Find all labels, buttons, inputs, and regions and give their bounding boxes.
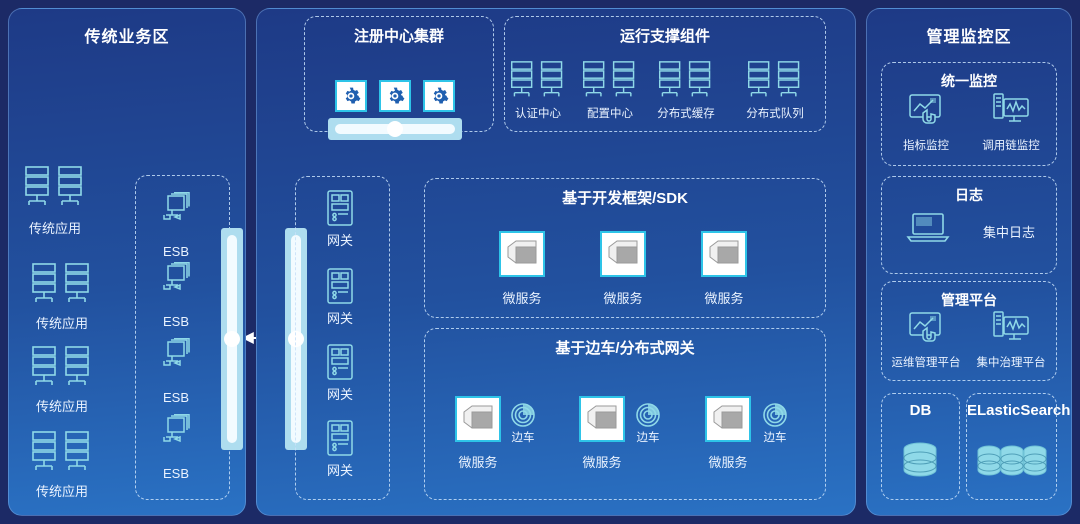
management-platform-title: 管理平台 xyxy=(882,290,1056,310)
registry-horizontal-slider[interactable] xyxy=(328,118,462,140)
sidecar-label: 边车 xyxy=(764,429,787,445)
runtime-item-label: 配置中心 xyxy=(587,105,633,121)
runtime-item-label: 分布式队列 xyxy=(746,105,804,121)
cube-icon xyxy=(708,239,740,269)
registry-cluster-box: 注册中心集群 xyxy=(304,16,494,132)
esb-label: ESB xyxy=(163,390,189,405)
gateway-icon xyxy=(325,268,355,311)
gateway-icon xyxy=(325,190,355,233)
sdk-microservice-0[interactable] xyxy=(499,231,545,277)
sdk-microservice-label: 微服务 xyxy=(502,288,541,307)
cube-icon xyxy=(506,239,538,269)
registry-slider-knob[interactable] xyxy=(387,121,403,137)
zone-legacy-title: 传统业务区 xyxy=(9,23,245,47)
gear-icon xyxy=(385,86,405,106)
sidecar-microservice-0[interactable] xyxy=(455,396,501,442)
runtime-item-label: 认证中心 xyxy=(515,105,561,121)
server-rack-icon xyxy=(746,60,804,105)
esb-icon xyxy=(156,262,196,305)
esb-label: ESB xyxy=(163,314,189,329)
legacy-app-label: 传统应用 xyxy=(29,218,81,237)
laptop-icon xyxy=(906,212,950,249)
sidecar-microservice-label: 微服务 xyxy=(708,452,747,471)
gateway-label: 网关 xyxy=(327,230,353,249)
database-cylinder-icon xyxy=(899,440,941,491)
esb-label: ESB xyxy=(163,244,189,259)
sidecar-microservice-label: 微服务 xyxy=(582,452,621,471)
metrics-monitoring-label: 指标监控 xyxy=(903,137,949,153)
gateway-icon xyxy=(325,344,355,387)
sidecar-label: 边车 xyxy=(637,429,660,445)
cube-icon xyxy=(462,404,494,434)
cube-icon xyxy=(607,239,639,269)
server-rack-icon xyxy=(23,165,87,214)
server-rack-icon xyxy=(30,430,94,479)
sidecar-zone-title: 基于边车/分布式网关 xyxy=(425,337,825,358)
gear-icon xyxy=(341,86,361,106)
sdk-zone-title: 基于开发框架/SDK xyxy=(425,187,825,208)
elasticsearch-title: ELasticSearch xyxy=(967,402,1056,419)
registry-node-2[interactable] xyxy=(423,80,455,112)
legacy-app-label: 传统应用 xyxy=(36,481,88,500)
gateway-icon xyxy=(325,420,355,463)
gateway-label: 网关 xyxy=(327,460,353,479)
gateway-label: 网关 xyxy=(327,308,353,327)
gear-icon xyxy=(429,86,449,106)
server-rack-icon xyxy=(30,262,94,311)
sidecar-microservice-label: 微服务 xyxy=(458,452,497,471)
server-rack-icon xyxy=(657,60,715,105)
sdk-microservice-label: 微服务 xyxy=(704,288,743,307)
trace-monitor-icon xyxy=(992,93,1030,130)
runtime-item-label: 分布式缓存 xyxy=(657,105,715,121)
registry-node-1[interactable] xyxy=(379,80,411,112)
runtime-support-title: 运行支撑组件 xyxy=(505,25,825,46)
sdk-microservice-1[interactable] xyxy=(600,231,646,277)
zone-management-title: 管理监控区 xyxy=(867,23,1071,47)
esb-icon xyxy=(156,414,196,457)
sidecar-microservice-2[interactable] xyxy=(705,396,751,442)
cube-icon xyxy=(712,404,744,434)
registry-node-0[interactable] xyxy=(335,80,367,112)
legacy-app-label: 传统应用 xyxy=(36,396,88,415)
ops-platform-label: 运维管理平台 xyxy=(892,354,961,370)
trace-monitor-icon xyxy=(992,311,1030,348)
esb-icon xyxy=(156,192,196,235)
gateway-label: 网关 xyxy=(327,384,353,403)
unified-monitoring-title: 统一监控 xyxy=(882,71,1056,91)
metrics-dashboard-icon xyxy=(908,93,944,130)
database-cylinder-icon xyxy=(1022,444,1048,489)
server-rack-icon xyxy=(30,345,94,394)
legacy-app-label: 传统应用 xyxy=(36,313,88,332)
registry-cluster-title: 注册中心集群 xyxy=(305,25,493,46)
sdk-microservice-label: 微服务 xyxy=(603,288,642,307)
esb-label: ESB xyxy=(163,466,189,481)
trace-monitoring-label: 调用链监控 xyxy=(982,137,1040,153)
server-rack-icon xyxy=(581,60,639,105)
metrics-dashboard-icon xyxy=(908,311,944,348)
sidecar-label: 边车 xyxy=(512,429,535,445)
esb-vertical-slider[interactable] xyxy=(221,228,243,450)
esb-icon xyxy=(156,338,196,381)
esb-slider-knob[interactable] xyxy=(224,331,240,347)
logging-title: 日志 xyxy=(882,185,1056,205)
sidecar-microservice-1[interactable] xyxy=(579,396,625,442)
cube-icon xyxy=(586,404,618,434)
server-rack-icon xyxy=(509,60,567,105)
centralized-logging-label: 集中日志 xyxy=(983,222,1035,241)
db-title: DB xyxy=(882,402,959,419)
sdk-microservice-2[interactable] xyxy=(701,231,747,277)
governance-platform-label: 集中治理平台 xyxy=(977,354,1046,370)
